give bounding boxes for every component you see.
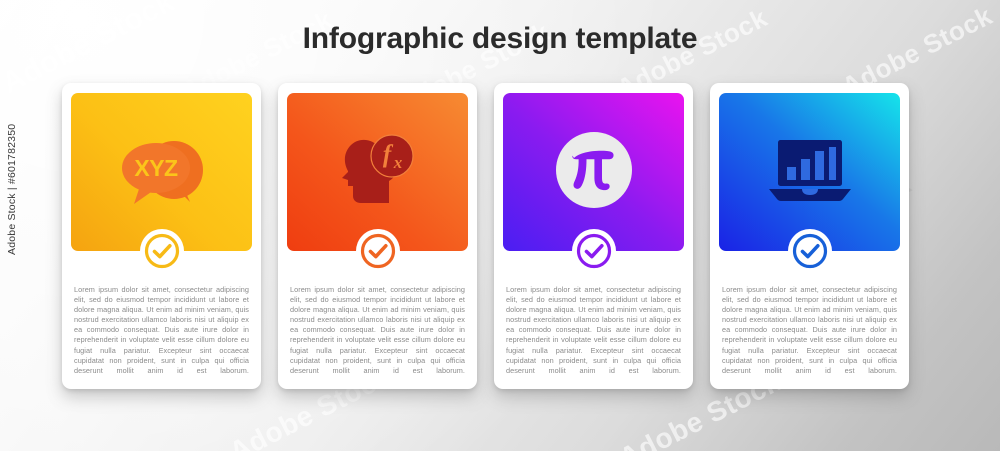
card-body-text: Lorem ipsum dolor sit amet, consectetur … <box>503 285 684 386</box>
card-shadow <box>74 385 249 397</box>
head-function-fx-icon: f x <box>328 120 428 220</box>
status-badge <box>356 229 400 273</box>
svg-text:x: x <box>392 153 402 172</box>
card-swatch <box>719 93 900 251</box>
card-swatch <box>503 93 684 251</box>
card-shadow <box>722 385 897 397</box>
page-title: Infographic design template <box>0 22 1000 56</box>
card-swatch: f x <box>287 93 468 251</box>
info-card[interactable]: Lorem ipsum dolor sit amet, consectetur … <box>494 83 693 389</box>
card-body-text: Lorem ipsum dolor sit amet, consectetur … <box>287 285 468 386</box>
xyz-speech-bubbles-icon: XYZ <box>112 120 212 220</box>
stock-credit-watermark: Adobe Stock | #601782350 <box>6 124 18 255</box>
infographic-canvas: Adobe Stock Adobe Stock Adobe Stock Adob… <box>0 0 1000 451</box>
card-shadow <box>290 385 465 397</box>
status-badge <box>140 229 184 273</box>
info-card[interactable]: XYZ Lorem ipsum dolor sit amet, consecte… <box>62 83 261 389</box>
card-list: XYZ Lorem ipsum dolor sit amet, consecte… <box>62 83 942 389</box>
pi-symbol-icon <box>544 120 644 220</box>
card-body-text: Lorem ipsum dolor sit amet, consectetur … <box>71 285 252 386</box>
svg-text:XYZ: XYZ <box>134 155 178 181</box>
card-body-text: Lorem ipsum dolor sit amet, consectetur … <box>719 285 900 386</box>
status-badge <box>572 229 616 273</box>
card-swatch: XYZ <box>71 93 252 251</box>
laptop-bar-chart-icon <box>760 120 860 220</box>
status-badge <box>788 229 832 273</box>
info-card[interactable]: Lorem ipsum dolor sit amet, consectetur … <box>710 83 909 389</box>
info-card[interactable]: f x Lorem ipsum dolor sit amet, consecte… <box>278 83 477 389</box>
card-shadow <box>506 385 681 397</box>
